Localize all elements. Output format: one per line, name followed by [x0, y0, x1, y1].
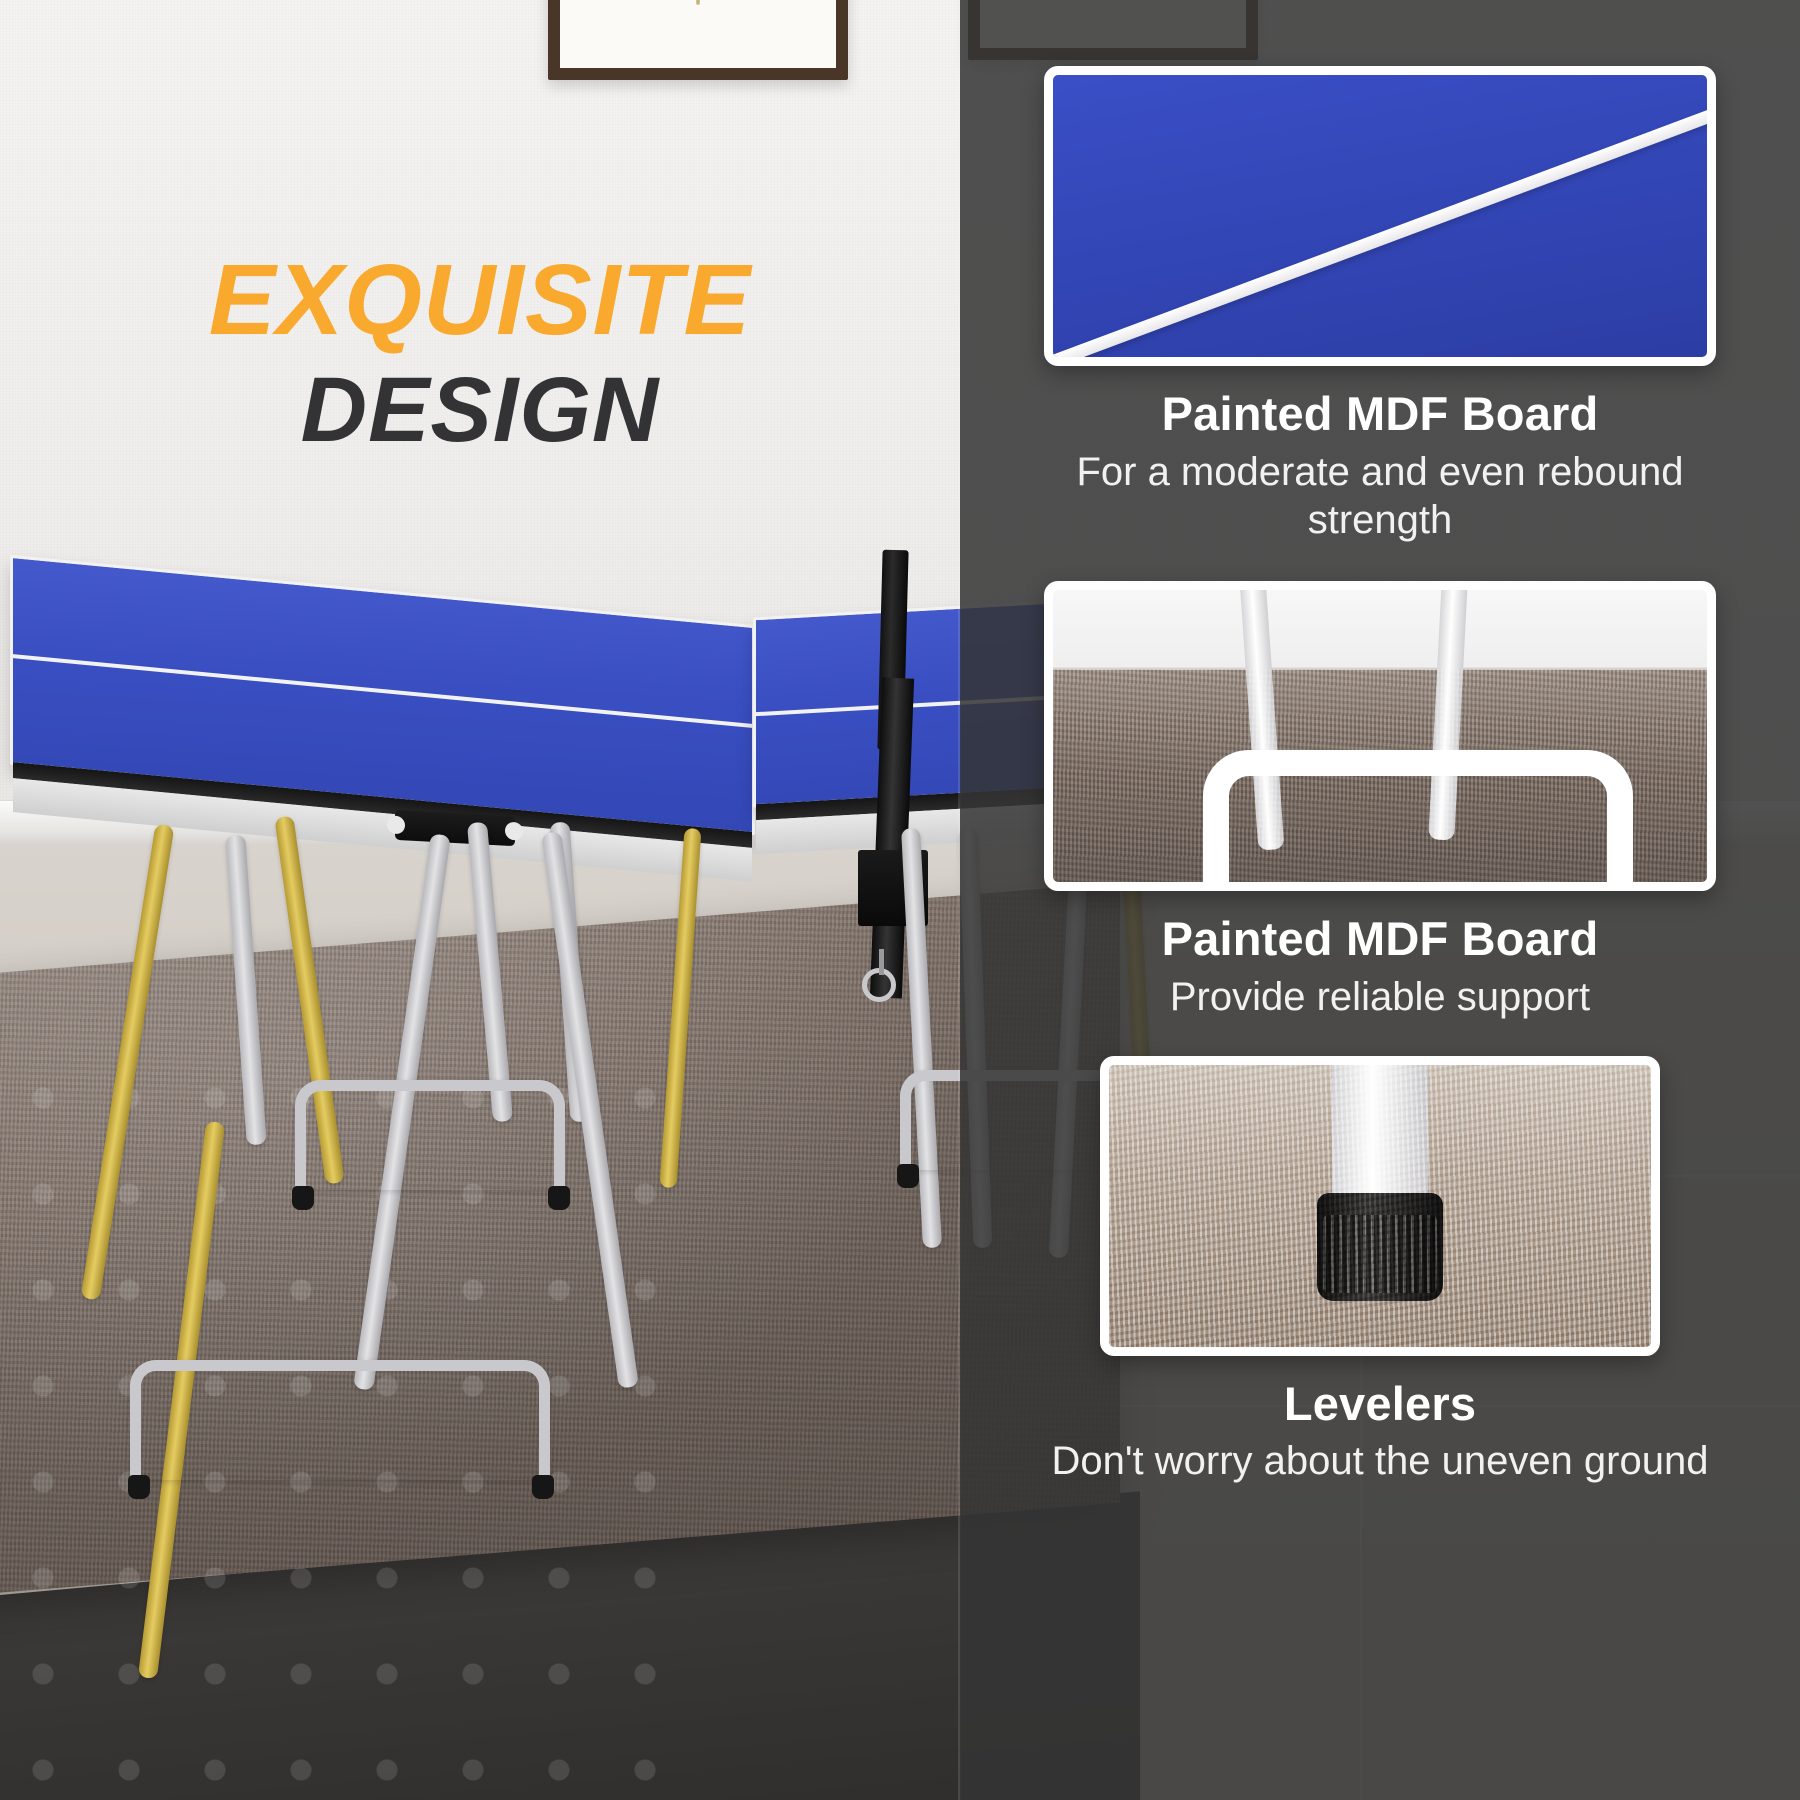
leg-tube	[1332, 1059, 1428, 1209]
table-top-left-half	[10, 555, 755, 835]
feature-title-3: Levelers	[1284, 1378, 1476, 1430]
feature-title-1: Painted MDF Board	[1162, 388, 1599, 440]
headline-block: EXQUISITE DESIGN	[0, 250, 960, 456]
feature-subtitle-3: Don't worry about the uneven ground	[1052, 1437, 1709, 1486]
leveler-foot-5	[128, 1475, 150, 1499]
feature-title-2: Painted MDF Board	[1162, 913, 1599, 965]
center-line	[1044, 87, 1716, 366]
leveler-cap	[1317, 1193, 1443, 1301]
support-leg-2	[467, 822, 513, 1123]
feature-image-levelers	[1100, 1056, 1660, 1356]
product-feature-graphic: EXQUISITE DESIGN Painted MDF Board For a…	[0, 0, 1800, 1800]
leg-crossbar-front	[295, 1080, 565, 1190]
carry-handle	[395, 810, 515, 846]
feature-panel: Painted MDF Board For a moderate and eve…	[960, 0, 1800, 1800]
leg-crossbar-bottom	[130, 1360, 550, 1480]
tension-ring	[862, 968, 896, 1002]
leveler-foot-2	[548, 1186, 570, 1210]
feature-subtitle-1: For a moderate and even rebound strength	[1020, 448, 1740, 546]
floor-horizon-line	[1053, 666, 1707, 670]
feature-image-painted-mdf-board-legs	[1044, 581, 1716, 891]
white-leg-left	[1240, 581, 1285, 851]
accent-leg-1	[81, 823, 175, 1300]
headline-line-2: DESIGN	[0, 364, 960, 456]
feature-subtitle-2: Provide reliable support	[1170, 973, 1590, 1022]
headline-line-1: EXQUISITE	[0, 250, 960, 350]
leveler-foot-6	[532, 1475, 554, 1499]
accent-leg-4	[659, 828, 701, 1188]
picture-frame-left	[548, 0, 848, 80]
leveler-foot-3	[897, 1164, 919, 1188]
white-leg-right	[1428, 581, 1468, 841]
feature-image-painted-mdf-board-top	[1044, 66, 1716, 366]
white-crossbar	[1203, 750, 1633, 891]
frame-mat	[560, 0, 836, 68]
support-leg-1	[225, 835, 267, 1146]
leveler-foot-1	[292, 1186, 314, 1210]
